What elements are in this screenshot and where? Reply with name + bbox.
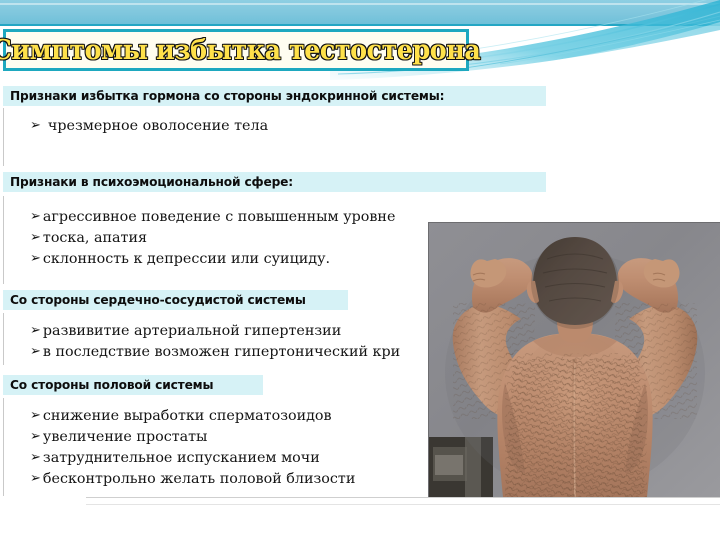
list-item: ➢ чрезмерное оволосение тела [30,116,268,137]
page-title: Симптомы избытка тестостерона [0,37,480,64]
top-band-highlight [0,3,720,5]
bullet-list-reproductive: ➢ снижение выработки сперматозоидов ➢ ув… [30,406,355,490]
list-item: ➢ тоска, апатия [30,228,395,249]
list-item-label: увеличение простаты [43,427,208,447]
list-item-label: развивитие артериальной гипертензии [43,321,341,341]
photo-bottom-rule [86,497,720,498]
anatomy-photo [428,222,720,497]
list-item: ➢ агрессивное поведение с повышенным уро… [30,207,395,228]
section-heading-reproductive: Со стороны половой системы [3,375,263,395]
arrow-bullet-icon: ➢ [30,321,41,341]
list-item: ➢ затруднительное испусканием мочи [30,448,355,469]
list-item-label: в последствие возможен гипертонический к… [43,342,400,362]
photo-bottom-rule-2 [86,504,720,505]
section-heading-cardiovascular: Со стороны сердечно-сосудистой системы [3,290,348,310]
content-frame-line-1 [3,108,4,166]
list-item: ➢ бесконтрольно желать половой близости [30,469,355,490]
list-item-label: склонность к депрессии или суициду. [43,249,330,269]
list-item-label: тоска, апатия [43,228,147,248]
content-frame-line-2 [3,196,4,284]
arrow-bullet-icon: ➢ [30,228,41,248]
arrow-bullet-icon: ➢ [30,342,41,362]
bullet-list-psychoemotional: ➢ агрессивное поведение с повышенным уро… [30,207,395,270]
arrow-bullet-icon: ➢ [30,406,41,426]
arrow-bullet-icon: ➢ [30,469,41,489]
section-heading-psychoemotional: Признаки в психоэмоциональной сфере: [3,172,546,192]
list-item: ➢ развивитие артериальной гипертензии [30,321,400,342]
list-item: ➢ увеличение простаты [30,427,355,448]
arrow-bullet-icon: ➢ [30,249,41,269]
list-item-label: агрессивное поведение с повышенным уровн… [43,207,396,227]
list-item: ➢ в последствие возможен гипертонический… [30,342,400,363]
arrow-bullet-icon: ➢ [30,116,41,136]
top-band-rule [0,24,720,26]
content-frame-line-3 [3,313,4,365]
slide-canvas: Симптомы избытка тестостерона Признаки и… [0,0,720,540]
list-item-label: бесконтрольно желать половой близости [43,469,355,489]
arrow-bullet-icon: ➢ [30,427,41,447]
content-frame-line-4 [3,398,4,496]
list-item-label: снижение выработки сперматозоидов [43,406,332,426]
arrow-bullet-icon: ➢ [30,207,41,227]
list-item: ➢ склонность к депрессии или суициду. [30,249,395,270]
section-heading-endocrine: Признаки избытка гормона со стороны эндо… [3,86,546,106]
bullet-list-endocrine: ➢ чрезмерное оволосение тела [30,116,268,137]
bullet-list-cardiovascular: ➢ развивитие артериальной гипертензии ➢ … [30,321,400,363]
slide-title-box: Симптомы избытка тестостерона [3,29,469,71]
list-item: ➢ снижение выработки сперматозоидов [30,406,355,427]
list-item-label: чрезмерное оволосение тела [48,116,268,136]
arrow-bullet-icon: ➢ [30,448,41,468]
list-item-label: затруднительное испусканием мочи [43,448,320,468]
